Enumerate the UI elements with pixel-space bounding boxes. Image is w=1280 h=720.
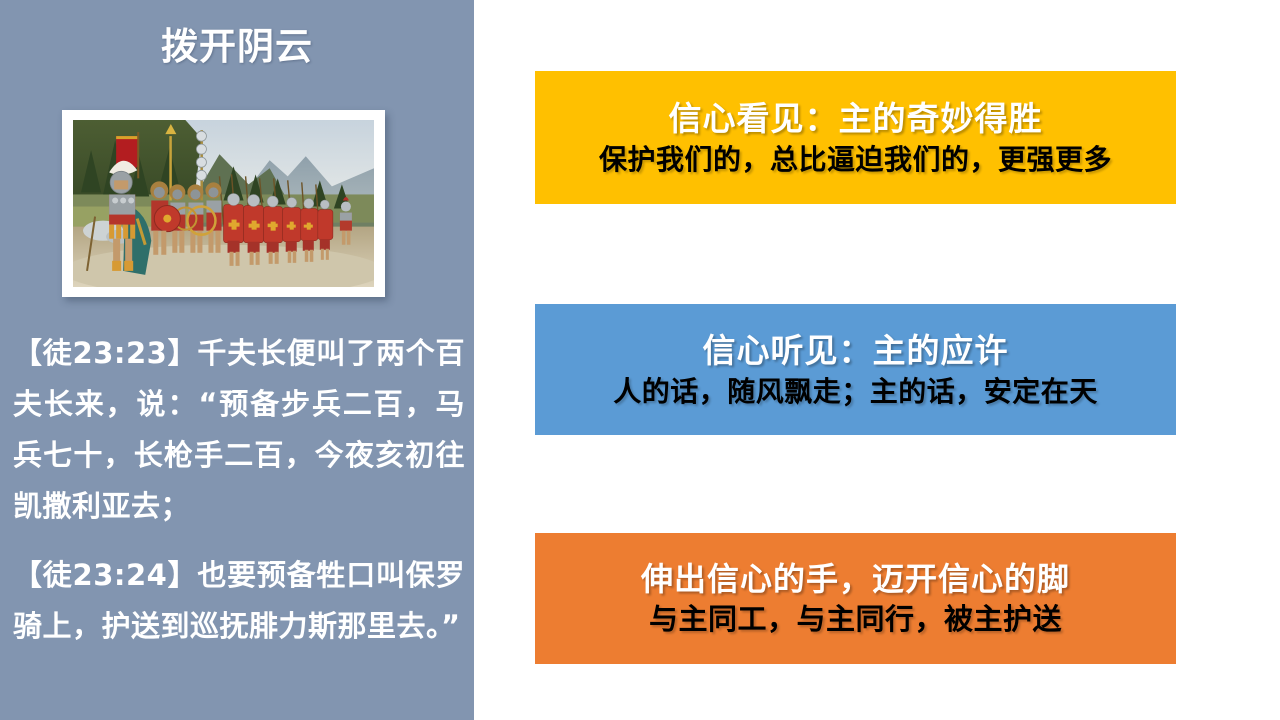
banner-faith-sees: 信心看见：主的奇妙得胜 保护我们的，总比逼迫我们的，更强更多	[535, 71, 1176, 204]
scripture-paragraph-1: 【徒23:23】千夫长便叫了两个百夫长来，说：“预备步兵二百，马兵七十，长枪手二…	[13, 328, 465, 532]
banner-faith-hears-subtitle: 人的话，随风飘走；主的话，安定在天	[613, 374, 1098, 409]
banner-faith-sees-title: 信心看见：主的奇妙得胜	[669, 98, 1043, 139]
scripture-text: 【徒23:23】千夫长便叫了两个百夫长来，说：“预备步兵二百，马兵七十，长枪手二…	[13, 328, 465, 652]
picture-frame	[62, 110, 385, 297]
sidebar-panel: 拨开阴云	[0, 0, 474, 720]
banner-faith-acts-title: 伸出信心的手，迈开信心的脚	[641, 559, 1070, 599]
scripture-paragraph-2: 【徒23:24】也要预备牲口叫保罗骑上，护送到巡抚腓力斯那里去。”	[13, 550, 465, 652]
presentation-slide: 拨开阴云	[0, 0, 1280, 720]
illustration-svg	[73, 120, 374, 287]
banner-faith-hears-title: 信心听见：主的应许	[703, 330, 1009, 371]
roman-legion-marching-illustration	[73, 120, 374, 287]
page-title: 拨开阴云	[0, 26, 474, 69]
banner-faith-sees-subtitle: 保护我们的，总比逼迫我们的，更强更多	[599, 142, 1112, 177]
banner-faith-acts-subtitle: 与主同工，与主同行，被主护送	[649, 601, 1062, 637]
banner-faith-hears: 信心听见：主的应许 人的话，随风飘走；主的话，安定在天	[535, 304, 1176, 435]
banner-faith-acts: 伸出信心的手，迈开信心的脚 与主同工，与主同行，被主护送	[535, 533, 1176, 664]
